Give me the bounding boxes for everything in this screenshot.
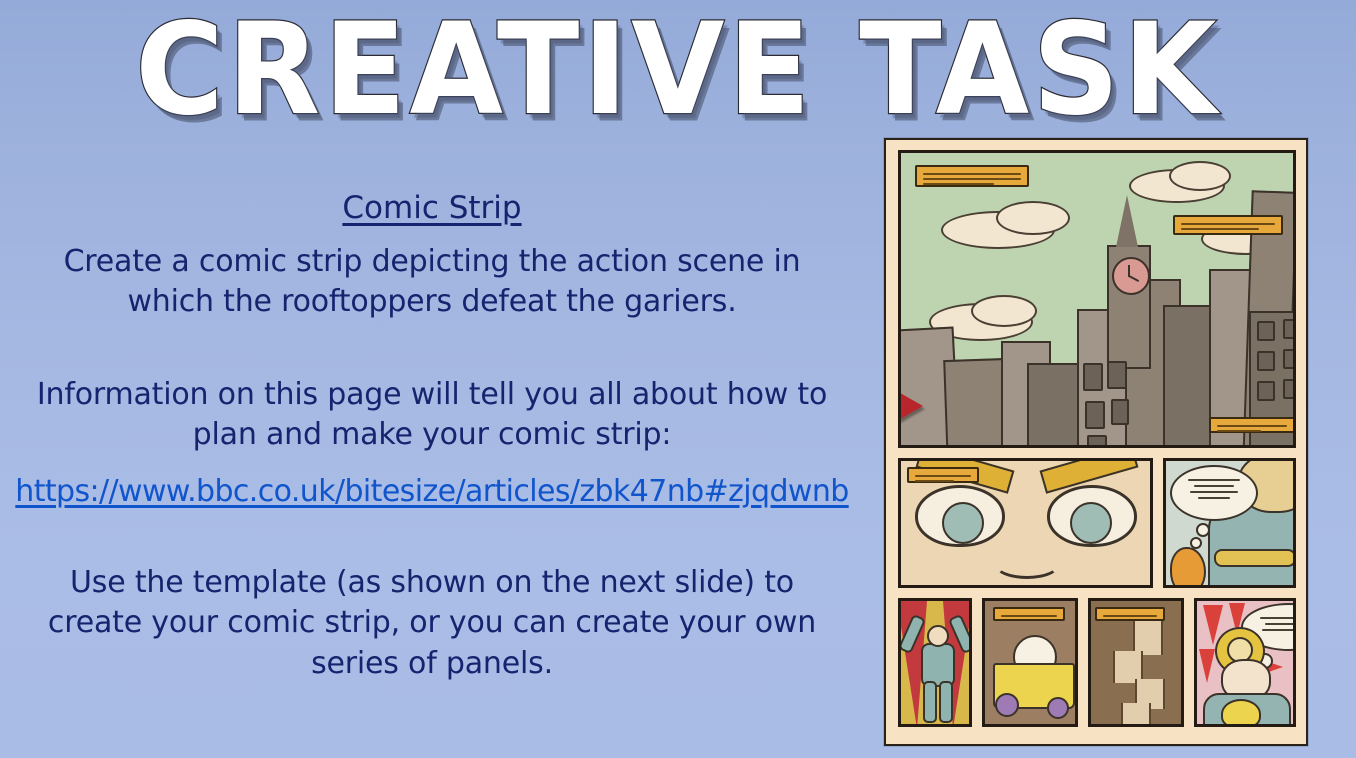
slide-canvas: CREATIVE TASK Comic Strip Create a comic… — [0, 0, 1356, 758]
window-shape — [1083, 363, 1103, 391]
bbc-bitesize-link[interactable]: https://www.bbc.co.uk/bitesize/articles/… — [15, 472, 848, 511]
caption-box — [915, 165, 1029, 187]
road-segment — [1133, 621, 1163, 655]
comic-row-bottom — [898, 598, 1296, 727]
comic-panel-shouting-figure — [1194, 598, 1296, 727]
spacer — [8, 456, 856, 472]
iris-shape — [1070, 502, 1112, 544]
eye-shape — [1047, 485, 1137, 547]
bubble-text-line — [1194, 485, 1234, 487]
caption-line — [1217, 430, 1261, 432]
caption-line — [1181, 223, 1275, 225]
task-paragraph-1: Create a comic strip depicting the actio… — [8, 242, 856, 323]
window-shape — [1283, 379, 1296, 399]
window-shape — [1257, 351, 1275, 371]
cloud-icon — [996, 201, 1070, 235]
window-shape — [1107, 361, 1127, 389]
caption-line — [1181, 228, 1259, 230]
eye-shape — [915, 485, 1005, 547]
mouth-shape — [993, 547, 1061, 579]
bubble-text-line — [1198, 497, 1230, 499]
caption-line — [923, 173, 1021, 175]
collar-shape — [1221, 699, 1261, 727]
bubble-text-line — [1260, 617, 1296, 619]
tower-spire — [1116, 195, 1138, 247]
caption-box — [1095, 607, 1165, 621]
section-heading: Comic Strip — [8, 190, 856, 228]
bubble-text-line — [1190, 491, 1237, 493]
caption-line — [1103, 615, 1157, 617]
caption-line — [923, 178, 1021, 180]
caption-line — [915, 475, 971, 477]
caption-line — [1217, 425, 1287, 427]
orange-creature — [1170, 547, 1206, 588]
iris-shape — [942, 502, 984, 544]
clock-icon — [1112, 257, 1150, 295]
spacer — [8, 323, 856, 375]
clock-hand — [1129, 275, 1140, 282]
window-shape — [1085, 401, 1105, 429]
spacer — [8, 511, 856, 563]
comic-panel-road — [1088, 598, 1184, 727]
belt-shape — [1214, 549, 1296, 567]
caption-box — [1173, 215, 1283, 235]
comic-panel-cart — [982, 598, 1078, 727]
comic-row-middle — [898, 458, 1296, 588]
red-ray — [1199, 649, 1215, 683]
comic-panel-thought-figure — [1163, 458, 1296, 588]
hero-leg — [939, 681, 953, 723]
window-shape — [1283, 319, 1296, 339]
comic-panel-cityscape — [898, 150, 1296, 448]
hero-leg — [923, 681, 937, 723]
cloud-icon — [1169, 161, 1231, 191]
bubble-text-line — [1265, 623, 1296, 625]
caption-line — [923, 183, 994, 185]
cart-wheel — [1047, 697, 1069, 719]
caption-line — [915, 480, 954, 482]
cart-wheel — [995, 693, 1019, 717]
caption-box — [993, 607, 1065, 621]
hero-head — [927, 625, 949, 647]
comic-strip-template-image — [884, 138, 1308, 746]
caption-line — [1001, 615, 1057, 617]
task-paragraph-3: Use the template (as shown on the next s… — [8, 563, 856, 685]
content-text-column: Comic Strip Create a comic strip depicti… — [8, 190, 856, 684]
red-arrow-icon — [898, 389, 923, 423]
window-shape — [1257, 321, 1275, 341]
comic-panel-face-closeup — [898, 458, 1153, 588]
page-title: CREATIVE TASK — [136, 2, 1221, 136]
window-shape — [1087, 435, 1107, 448]
thought-bubble — [1170, 465, 1258, 521]
bubble-text-line — [1262, 629, 1296, 631]
road-segment — [1121, 703, 1151, 727]
window-shape — [1257, 381, 1275, 401]
caption-box — [1209, 417, 1295, 433]
window-shape — [1283, 349, 1296, 369]
thought-dot — [1196, 523, 1210, 537]
title-block: CREATIVE TASK — [0, 2, 1356, 112]
bubble-text-line — [1188, 479, 1239, 481]
caption-box — [907, 467, 979, 483]
cloud-icon — [971, 295, 1037, 327]
task-paragraph-2: Information on this page will tell you a… — [8, 375, 856, 456]
window-shape — [1111, 399, 1129, 425]
comic-panel-hero — [898, 598, 972, 727]
